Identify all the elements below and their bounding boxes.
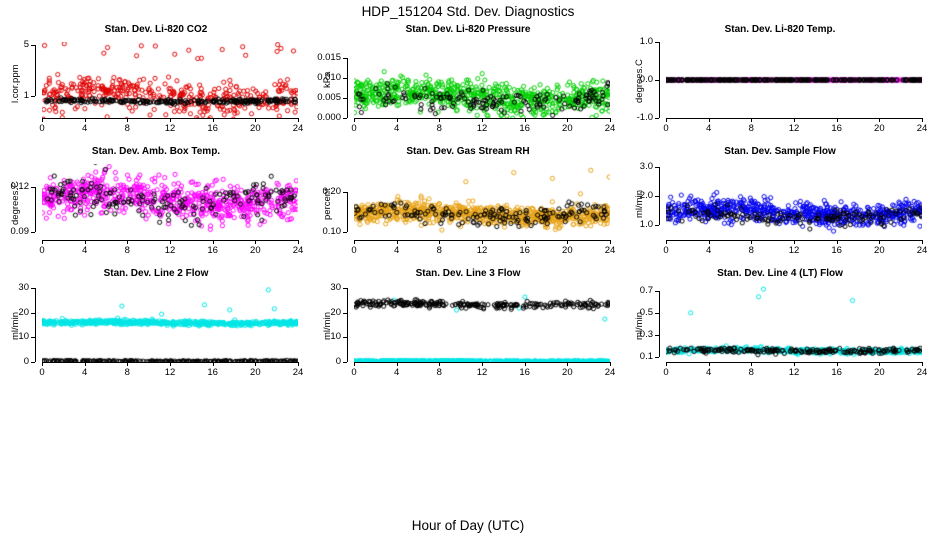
x-tick	[170, 118, 171, 122]
y-tick-label: 3.0	[624, 161, 653, 172]
y-tick	[655, 80, 659, 81]
y-axis-label: ml/min	[322, 312, 333, 340]
x-tick	[666, 362, 667, 366]
x-tick	[837, 362, 838, 366]
y-tick	[343, 98, 347, 99]
x-tick-label: 16	[823, 245, 851, 256]
y-tick-label: 0	[0, 356, 29, 367]
y-tick	[655, 118, 659, 119]
x-tick-label: 12	[780, 367, 808, 378]
y-axis-line	[659, 291, 660, 356]
x-tick-label: 24	[908, 123, 936, 134]
y-tick	[655, 42, 659, 43]
x-tick	[837, 118, 838, 122]
y-axis-label: kPa	[322, 71, 333, 87]
x-tick-label: 16	[511, 367, 539, 378]
x-tick-label: 16	[511, 245, 539, 256]
x-tick	[354, 118, 355, 122]
x-tick	[709, 362, 710, 366]
x-tick	[439, 362, 440, 366]
scatter-canvas	[354, 42, 610, 118]
x-tick-label: 24	[908, 245, 936, 256]
y-tick	[31, 337, 35, 338]
x-tick-label: 16	[199, 367, 227, 378]
x-tick	[525, 362, 526, 366]
y-tick-label: 0.10	[312, 226, 341, 237]
x-tick-label: 20	[241, 123, 269, 134]
x-tick	[439, 118, 440, 122]
x-tick-label: 24	[908, 367, 936, 378]
x-tick	[42, 118, 43, 122]
x-tick	[354, 362, 355, 366]
panel-title: Stan. Dev. Gas Stream RH	[312, 146, 624, 157]
x-tick-label: 4	[383, 245, 411, 256]
x-tick-label: 12	[468, 123, 496, 134]
x-tick-label: 20	[553, 367, 581, 378]
x-tick	[879, 118, 880, 122]
x-tick-label: 24	[284, 245, 312, 256]
x-tick	[751, 362, 752, 366]
x-tick-label: 16	[511, 123, 539, 134]
x-tick-label: 4	[383, 367, 411, 378]
x-tick	[298, 118, 299, 122]
y-tick	[343, 288, 347, 289]
y-tick	[343, 118, 347, 119]
y-tick	[655, 196, 659, 197]
x-tick-label: 20	[865, 245, 893, 256]
x-tick-label: 0	[652, 123, 680, 134]
y-tick-label: 0.005	[312, 92, 341, 103]
y-tick-label: 1.0	[624, 219, 653, 230]
x-tick-label: 4	[71, 245, 99, 256]
y-tick	[31, 232, 35, 233]
panel-title: Stan. Dev. Li-820 CO2	[0, 24, 312, 35]
panel-title: Stan. Dev. Li-820 Temp.	[624, 24, 936, 35]
x-tick	[127, 240, 128, 244]
x-tick	[482, 118, 483, 122]
x-tick-label: 20	[553, 123, 581, 134]
y-axis-line	[35, 45, 36, 96]
scatter-canvas	[42, 286, 298, 362]
x-tick	[751, 118, 752, 122]
chart-panel: Stan. Dev. Line 3 Flow048121620240102030…	[312, 268, 624, 390]
x-tick	[397, 118, 398, 122]
scatter-canvas	[42, 42, 298, 118]
y-tick-label: 30	[312, 282, 341, 293]
x-tick	[482, 362, 483, 366]
figure-title: HDP_151204 Std. Dev. Diagnostics	[0, 4, 936, 19]
x-tick-label: 16	[823, 367, 851, 378]
y-tick	[655, 167, 659, 168]
scatter-canvas	[666, 164, 922, 240]
x-tick-label: 0	[652, 367, 680, 378]
scatter-canvas	[354, 164, 610, 240]
x-tick-label: 8	[113, 245, 141, 256]
x-tick-label: 0	[652, 245, 680, 256]
x-tick	[213, 240, 214, 244]
y-tick	[31, 362, 35, 363]
x-tick	[922, 240, 923, 244]
y-tick	[655, 225, 659, 226]
x-tick	[567, 240, 568, 244]
x-tick	[794, 118, 795, 122]
chart-panel: Stan. Dev. Line 4 (LT) Flow048121620240.…	[624, 268, 936, 390]
x-tick-label: 8	[425, 123, 453, 134]
y-axis-line	[35, 288, 36, 362]
y-tick	[31, 187, 35, 188]
x-tick-label: 24	[596, 367, 624, 378]
chart-panel: Stan. Dev. Li-820 Pressure048121620240.0…	[312, 24, 624, 146]
y-tick	[343, 192, 347, 193]
panel-title: Stan. Dev. Line 3 Flow	[312, 268, 624, 279]
y-axis-label: ml/min	[10, 312, 21, 340]
x-tick	[567, 118, 568, 122]
x-tick	[567, 362, 568, 366]
x-tick-label: 0	[340, 245, 368, 256]
panel-title: Stan. Dev. Amb. Box Temp.	[0, 146, 312, 157]
x-tick-label: 0	[340, 367, 368, 378]
x-tick	[170, 240, 171, 244]
panel-title: Stan. Dev. Line 4 (LT) Flow	[624, 268, 936, 279]
x-tick-label: 8	[113, 367, 141, 378]
panel-title: Stan. Dev. Line 2 Flow	[0, 268, 312, 279]
y-axis-label: percent	[322, 189, 333, 221]
x-tick-label: 0	[28, 245, 56, 256]
x-tick-label: 8	[737, 367, 765, 378]
x-tick-label: 8	[113, 123, 141, 134]
y-tick	[343, 313, 347, 314]
x-tick-label: 12	[156, 367, 184, 378]
x-tick	[837, 240, 838, 244]
x-tick-label: 20	[553, 245, 581, 256]
x-tick	[213, 362, 214, 366]
y-tick	[343, 337, 347, 338]
y-tick-label: 0.09	[0, 226, 29, 237]
x-tick-label: 12	[780, 245, 808, 256]
y-axis-label: degrees.C	[634, 60, 645, 104]
x-tick-label: 0	[28, 123, 56, 134]
x-tick	[127, 118, 128, 122]
x-tick	[482, 240, 483, 244]
x-tick	[354, 240, 355, 244]
x-tick	[397, 362, 398, 366]
y-tick	[343, 232, 347, 233]
y-axis-line	[347, 58, 348, 118]
scatter-canvas	[354, 286, 610, 362]
x-tick-label: 4	[71, 367, 99, 378]
y-tick-label: 30	[0, 282, 29, 293]
x-tick	[255, 362, 256, 366]
x-tick-label: 8	[737, 123, 765, 134]
x-tick-label: 4	[695, 245, 723, 256]
y-tick-label: 5	[0, 39, 29, 50]
x-tick	[879, 362, 880, 366]
x-tick	[397, 240, 398, 244]
y-tick-label: 0	[312, 356, 341, 367]
y-axis-label: ml/min	[634, 312, 645, 340]
y-tick-label: -1.0	[624, 112, 653, 123]
x-tick	[255, 240, 256, 244]
x-tick	[709, 240, 710, 244]
x-tick-label: 4	[383, 123, 411, 134]
x-tick	[794, 240, 795, 244]
y-tick	[343, 58, 347, 59]
x-tick-label: 20	[865, 367, 893, 378]
x-tick	[666, 240, 667, 244]
y-axis-label: l.cor.ppm	[10, 65, 21, 104]
y-tick-label: 1.0	[624, 36, 653, 47]
y-axis-line	[659, 42, 660, 118]
x-tick	[709, 118, 710, 122]
x-tick	[666, 118, 667, 122]
x-tick	[255, 118, 256, 122]
y-axis-label: ml/min	[634, 190, 645, 218]
scatter-canvas	[666, 286, 922, 362]
y-tick-label: 0.7	[624, 285, 653, 296]
x-tick-label: 12	[156, 245, 184, 256]
scatter-canvas	[42, 164, 298, 240]
y-tick	[655, 313, 659, 314]
x-tick-label: 16	[199, 123, 227, 134]
x-tick-label: 12	[156, 123, 184, 134]
x-tick	[213, 118, 214, 122]
x-tick	[85, 118, 86, 122]
x-tick	[42, 240, 43, 244]
x-tick-label: 16	[823, 123, 851, 134]
x-tick	[610, 240, 611, 244]
y-tick	[31, 96, 35, 97]
x-tick-label: 4	[695, 367, 723, 378]
x-tick	[879, 240, 880, 244]
y-tick	[343, 78, 347, 79]
x-tick	[298, 240, 299, 244]
x-tick	[127, 362, 128, 366]
y-tick	[31, 45, 35, 46]
scatter-canvas	[666, 42, 922, 118]
x-tick-label: 24	[284, 123, 312, 134]
y-axis-line	[659, 167, 660, 225]
x-tick	[525, 118, 526, 122]
x-tick-label: 24	[284, 367, 312, 378]
x-tick-label: 12	[780, 123, 808, 134]
x-tick	[170, 362, 171, 366]
x-tick-label: 4	[695, 123, 723, 134]
chart-panel: Stan. Dev. Li-820 Temp.04812162024-1.00.…	[624, 24, 936, 146]
chart-panel: Stan. Dev. Li-820 CO20481216202415l.cor.…	[0, 24, 312, 146]
y-tick	[655, 357, 659, 358]
figure-xlabel: Hour of Day (UTC)	[0, 518, 936, 533]
x-tick	[922, 118, 923, 122]
x-tick-label: 16	[199, 245, 227, 256]
chart-panel: Stan. Dev. Line 2 Flow048121620240102030…	[0, 268, 312, 390]
y-tick	[655, 335, 659, 336]
x-tick-label: 24	[596, 123, 624, 134]
y-tick	[31, 288, 35, 289]
x-tick-label: 8	[737, 245, 765, 256]
x-tick-label: 12	[468, 245, 496, 256]
x-tick-label: 8	[425, 367, 453, 378]
x-tick-label: 0	[340, 123, 368, 134]
x-tick	[794, 362, 795, 366]
y-tick	[655, 291, 659, 292]
y-tick-label: 0.1	[624, 351, 653, 362]
x-tick-label: 20	[241, 367, 269, 378]
x-tick	[298, 362, 299, 366]
panel-title: Stan. Dev. Li-820 Pressure	[312, 24, 624, 35]
x-tick	[922, 362, 923, 366]
x-tick	[439, 240, 440, 244]
y-tick-label: 0.015	[312, 52, 341, 63]
x-tick	[85, 362, 86, 366]
y-tick	[343, 362, 347, 363]
x-tick-label: 0	[28, 367, 56, 378]
x-tick	[85, 240, 86, 244]
x-tick	[525, 240, 526, 244]
y-axis-line	[35, 187, 36, 233]
x-tick-label: 20	[241, 245, 269, 256]
y-axis-line	[347, 288, 348, 362]
x-tick-label: 20	[865, 123, 893, 134]
x-tick	[610, 362, 611, 366]
x-tick-label: 12	[468, 367, 496, 378]
x-tick-label: 8	[425, 245, 453, 256]
x-tick-label: 24	[596, 245, 624, 256]
y-axis-label: degrees.C	[10, 182, 21, 226]
chart-panel: Stan. Dev. Sample Flow048121620241.02.03…	[624, 146, 936, 268]
x-tick	[610, 118, 611, 122]
x-tick-label: 4	[71, 123, 99, 134]
chart-panel: Stan. Dev. Amb. Box Temp.048121620240.09…	[0, 146, 312, 268]
panel-title: Stan. Dev. Sample Flow	[624, 146, 936, 157]
x-tick	[751, 240, 752, 244]
x-tick	[42, 362, 43, 366]
y-tick	[31, 313, 35, 314]
y-axis-line	[347, 192, 348, 232]
y-tick-label: 0.000	[312, 112, 341, 123]
chart-panel: Stan. Dev. Gas Stream RH048121620240.100…	[312, 146, 624, 268]
